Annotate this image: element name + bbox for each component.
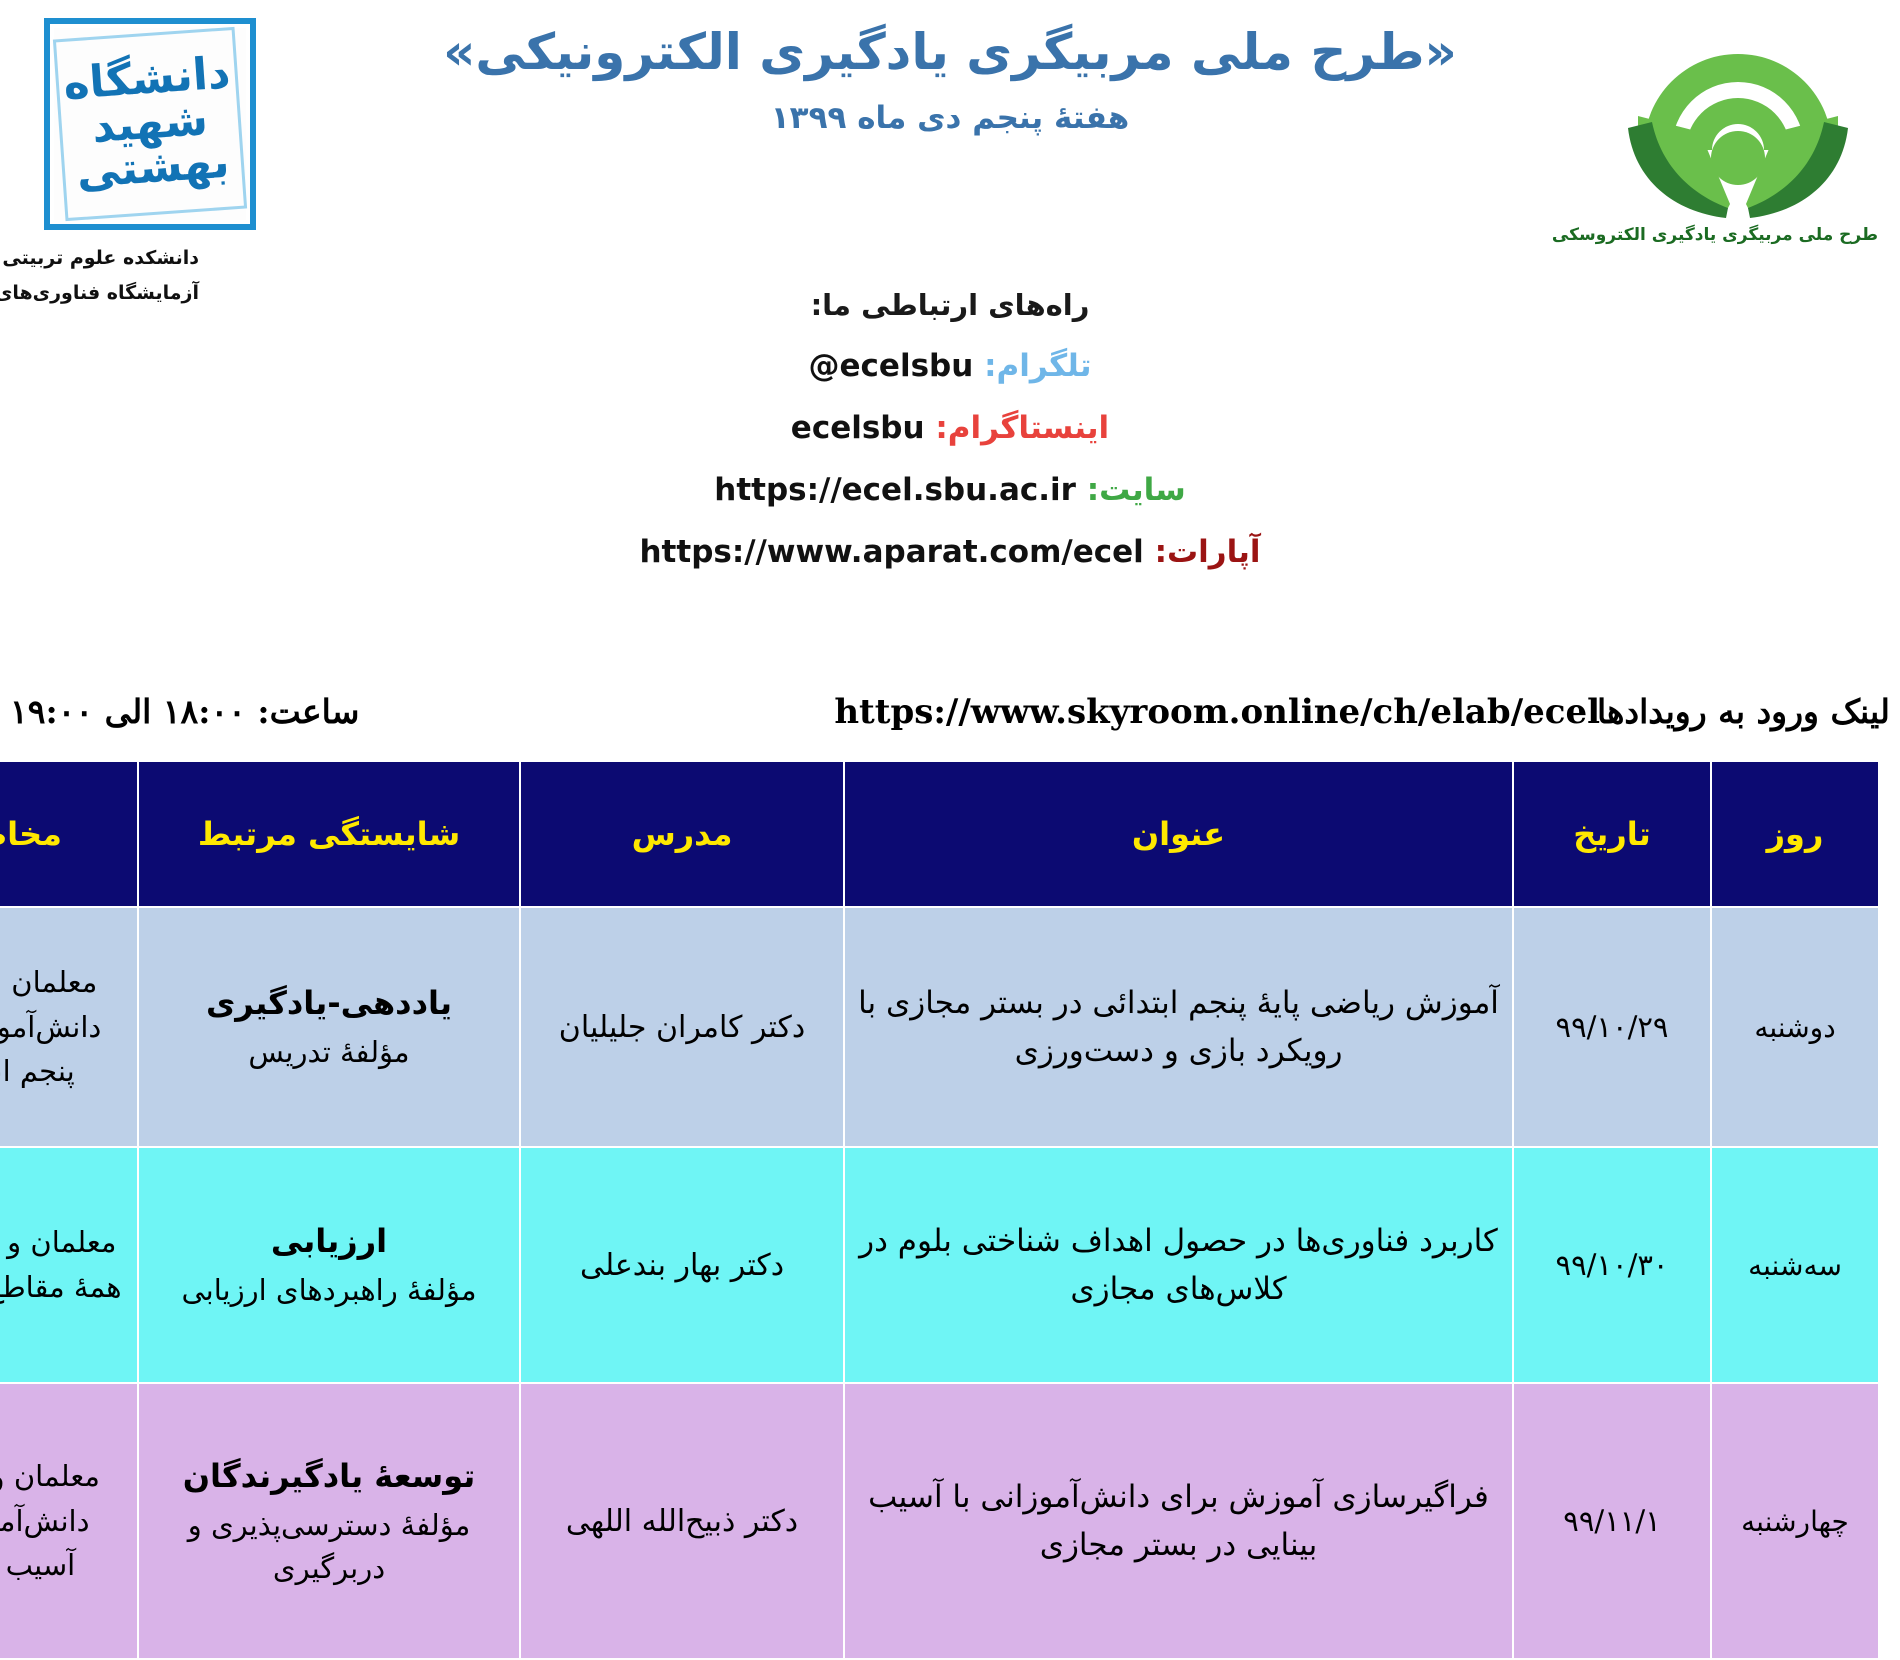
contact-value-aparat[interactable]: https://www.aparat.com/ecel (639, 534, 1143, 570)
sbu-logo-text: دانشگاه شهید بهشتی (53, 27, 247, 221)
column-header-audience[interactable]: مخاطب (0, 761, 138, 907)
cell-teacher: دکتر ذبیح‌الله اللهی (520, 1383, 844, 1659)
contact-value-site[interactable]: https://ecel.sbu.ac.ir (714, 472, 1076, 508)
cell-title: کاربرد فناوری‌ها در حصول اهداف شناختی بل… (844, 1147, 1513, 1383)
cell-title: فراگیرسازی آموزش برای دانش‌آموزانی با آس… (844, 1383, 1513, 1659)
competency-main: توسعۀ یادگیرندگان (149, 1452, 509, 1500)
contact-sep-instagram: : (935, 410, 947, 446)
cell-audience: معلمان و والدین دانش‌آموزان با آسیب بینا… (0, 1383, 138, 1659)
contact-label-telegram: تلگرام (997, 348, 1092, 384)
competency-main: ارزیابی (149, 1217, 509, 1265)
column-header-date[interactable]: تاریخ (1513, 761, 1711, 907)
contact-label-site: سایت (1099, 472, 1186, 508)
cell-competency: یاددهی-یادگیری مؤلفۀ تدریس (138, 907, 520, 1147)
ecel-logo-icon (1608, 8, 1868, 223)
cell-competency: ارزیابی مؤلفۀ راهبردهای ارزیابی (138, 1147, 520, 1383)
schedule-table-body: دوشنبه ۹۹/۱۰/۲۹ آموزش ریاضی پایۀ پنجم اب… (0, 907, 1879, 1659)
contact-sep-aparat: : (1155, 534, 1167, 570)
event-link-bar: لینک ورود به رویدادها https://www.skyroo… (0, 692, 1900, 754)
contact-row-aparat: آپارات: https://www.aparat.com/ecel (0, 534, 1900, 570)
cell-day: سه‌شنبه (1711, 1147, 1879, 1383)
cell-competency: توسعۀ یادگیرندگان مؤلفۀ دسترسی‌پذیری و د… (138, 1383, 520, 1659)
cell-day: چهارشنبه (1711, 1383, 1879, 1659)
contact-value-telegram[interactable]: @ecelsbu (809, 348, 974, 384)
contact-row-instagram: اینستاگرام: ecelsbu (0, 410, 1900, 446)
events-url[interactable]: https://www.skyroom.online/ch/elab/ecel (834, 692, 1600, 732)
cell-teacher: دکتر کامران جلیلیان (520, 907, 844, 1147)
contact-label-instagram: اینستاگرام (948, 410, 1109, 446)
table-header-row: روز تاریخ عنوان مدرس شایستگی مرتبط مخاطب (0, 761, 1879, 907)
schedule-table: روز تاریخ عنوان مدرس شایستگی مرتبط مخاطب… (0, 760, 1880, 1660)
contact-row-site: سایت: https://ecel.sbu.ac.ir (0, 472, 1900, 508)
column-header-competency[interactable]: شایستگی مرتبط (138, 761, 520, 907)
schedule-table-wrapper: روز تاریخ عنوان مدرس شایستگی مرتبط مخاطب… (20, 760, 1880, 1660)
university-logo-block: دانشگاه شهید بهشتی دانشکده علوم تربیتی و… (35, 18, 265, 309)
contact-row-telegram: تلگرام: @ecelsbu (0, 348, 1900, 384)
page-header: دانشگاه شهید بهشتی دانشکده علوم تربیتی و… (0, 0, 1900, 640)
column-header-day[interactable]: روز (1711, 761, 1879, 907)
cell-teacher: دکتر بهار بندعلی (520, 1147, 844, 1383)
contact-block: راه‌های ارتباطی ما: تلگرام: @ecelsbu این… (0, 288, 1900, 596)
competency-main: یاددهی-یادگیری (149, 979, 509, 1027)
cell-date: ۹۹/۱۱/۱ (1513, 1383, 1711, 1659)
sbu-logo-icon: دانشگاه شهید بهشتی (44, 18, 256, 230)
events-link-label: لینک ورود به رویدادها (1597, 692, 1890, 731)
table-row[interactable]: سه‌شنبه ۹۹/۱۰/۳۰ کاربرد فناوری‌ها در حصو… (0, 1147, 1879, 1383)
program-logo-caption: طرح ملی مربیگری یادگیری الکتروسکی (1598, 225, 1878, 245)
column-header-title[interactable]: عنوان (844, 761, 1513, 907)
cell-audience: معلمان و اساتید در همۀ مقاطع تحصیلی (0, 1147, 138, 1383)
table-row[interactable]: دوشنبه ۹۹/۱۰/۲۹ آموزش ریاضی پایۀ پنجم اب… (0, 907, 1879, 1147)
contact-value-instagram[interactable]: ecelsbu (791, 410, 925, 446)
cell-title: آموزش ریاضی پایۀ پنجم ابتدائی در بستر مج… (844, 907, 1513, 1147)
schedule-table-head: روز تاریخ عنوان مدرس شایستگی مرتبط مخاطب (0, 761, 1879, 907)
contact-sep-site: : (1087, 472, 1099, 508)
cell-date: ۹۹/۱۰/۲۹ (1513, 907, 1711, 1147)
cell-day: دوشنبه (1711, 907, 1879, 1147)
competency-sub: مؤلفۀ تدریس (149, 1031, 509, 1075)
contact-heading: راه‌های ارتباطی ما: (0, 288, 1900, 322)
contact-sep-telegram: : (984, 348, 996, 384)
table-row[interactable]: چهارشنبه ۹۹/۱۱/۱ فراگیرسازی آموزش برای د… (0, 1383, 1879, 1659)
competency-sub: مؤلفۀ دسترسی‌پذیری و دربرگیری (149, 1504, 509, 1591)
session-time-label: ساعت: ۱۸:۰۰ الی ۱۹:۰۰ (10, 692, 359, 731)
cell-date: ۹۹/۱۰/۳۰ (1513, 1147, 1711, 1383)
cell-audience: معلمان و اولیای دانش‌آموزان پایۀ پنجم اب… (0, 907, 138, 1147)
column-header-teacher[interactable]: مدرس (520, 761, 844, 907)
competency-sub: مؤلفۀ راهبردهای ارزیابی (149, 1269, 509, 1313)
contact-label-aparat: آپارات (1167, 534, 1261, 570)
program-logo-block: طرح ملی مربیگری یادگیری الکتروسکی (1598, 8, 1878, 245)
faculty-name: دانشکده علوم تربیتی و روان‌شناسی (0, 244, 199, 273)
